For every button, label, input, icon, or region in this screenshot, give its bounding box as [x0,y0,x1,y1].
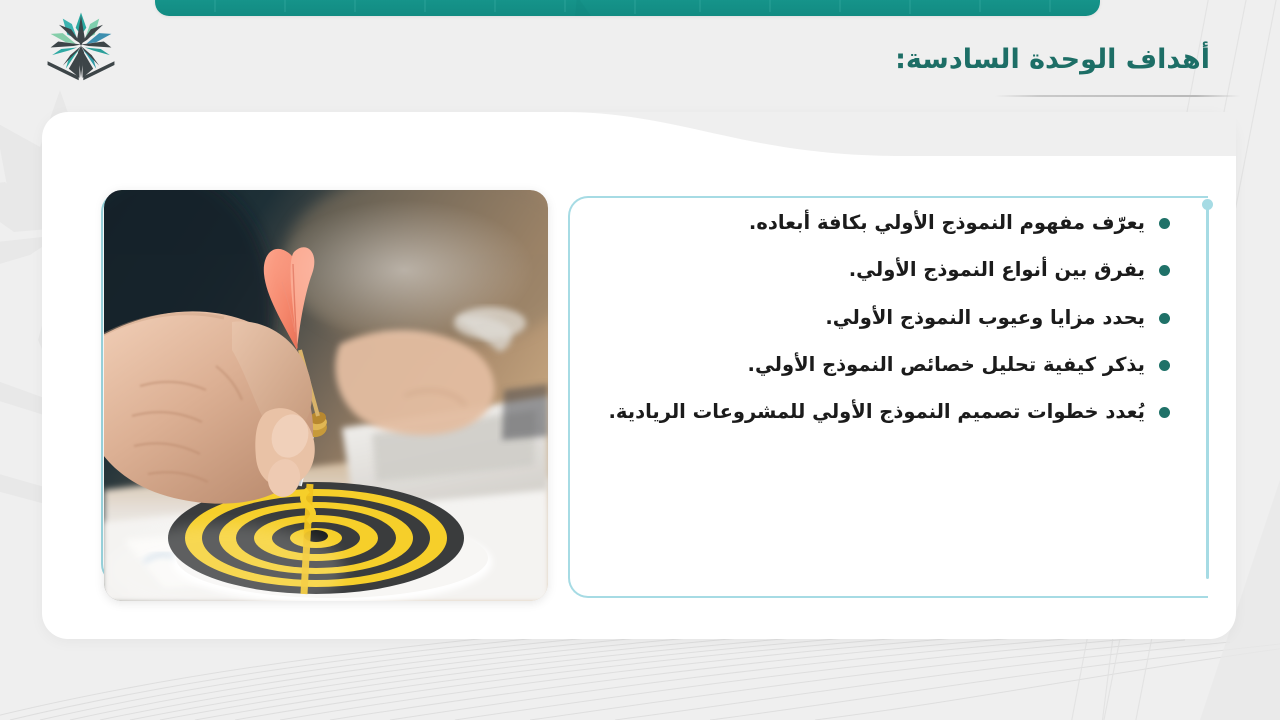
dart-and-target-photo [104,190,548,601]
objective-text: يعرّف مفهوم النموذج الأولي بكافة أبعاده. [600,208,1145,237]
objective-text: يفرق بين أنواع النموذج الأولي. [600,255,1145,284]
objectives-list: يعرّف مفهوم النموذج الأولي بكافة أبعاده.… [600,208,1170,444]
top-bar-ticks [155,0,1100,16]
objective-text: يذكر كيفية تحليل خصائص النموذج الأولي. [600,350,1145,379]
list-item: يذكر كيفية تحليل خصائص النموذج الأولي. [600,350,1170,379]
page-title: أهداف الوحدة السادسة: [610,44,1210,75]
bullet-icon [1159,360,1170,371]
bullet-icon [1159,407,1170,418]
list-item: يفرق بين أنواع النموذج الأولي. [600,255,1170,284]
bullet-icon [1159,265,1170,276]
objective-text: يحدد مزايا وعيوب النموذج الأولي. [600,303,1145,332]
list-item: يعرّف مفهوم النموذج الأولي بكافة أبعاده. [600,208,1170,237]
card-top-wave [42,112,1236,172]
bullet-icon [1159,313,1170,324]
title-divider [995,95,1240,97]
objectives-panel-dot [1202,199,1213,210]
objective-text: يُعدد خطوات تصميم النموذج الأولي للمشروع… [600,397,1145,426]
decorative-top-bar [155,0,1100,16]
bullet-icon [1159,218,1170,229]
list-item: يُعدد خطوات تصميم النموذج الأولي للمشروع… [600,397,1170,426]
list-item: يحدد مزايا وعيوب النموذج الأولي. [600,303,1170,332]
tvtc-logo [42,8,120,84]
objectives-panel-right-stroke [1206,203,1209,579]
